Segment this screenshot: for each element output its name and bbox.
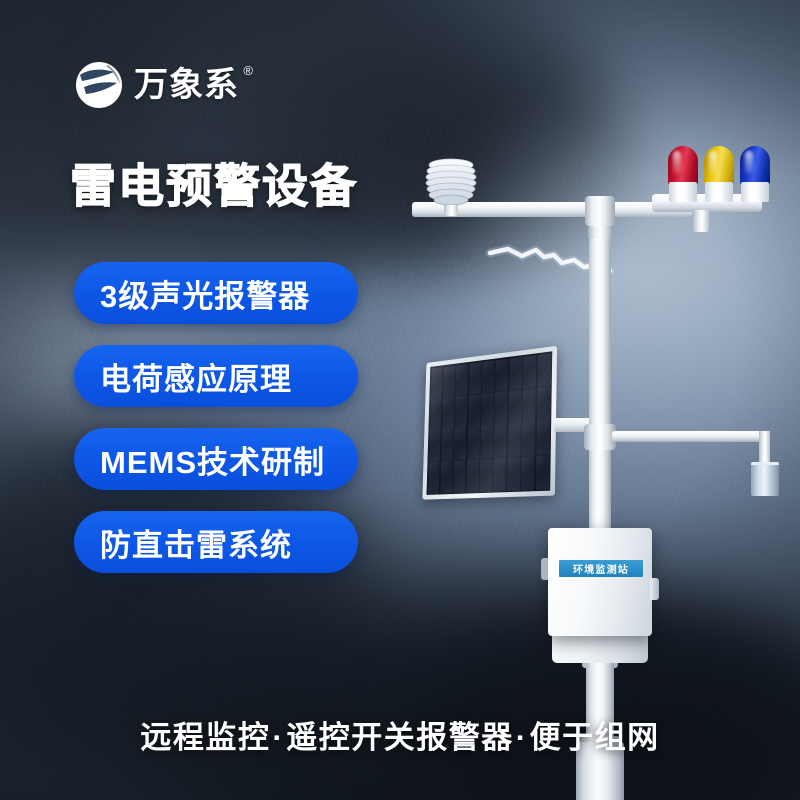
footer-tagline: 远程监控·遥控开关报警器·便于组网 bbox=[0, 712, 800, 757]
control-box-label: 环境监测站 bbox=[559, 560, 643, 577]
cross-arm-clamp-lower bbox=[588, 226, 612, 239]
page-title: 雷电预警设备 bbox=[70, 163, 358, 209]
control-box-right-bracket bbox=[650, 578, 659, 600]
beacon-highlight bbox=[673, 151, 681, 175]
tagline-separator: · bbox=[270, 720, 286, 755]
beacon-base bbox=[669, 182, 697, 202]
tagline-part-1: 远程监控 bbox=[140, 720, 270, 755]
feature-pill: 防直击雷系统 bbox=[74, 511, 358, 573]
brand-name: 万象系 bbox=[134, 66, 239, 104]
feature-pill: 3级声光报警器 bbox=[74, 262, 358, 324]
tagline-part-2: 遥控开关报警器 bbox=[286, 720, 514, 755]
solar-panel-frame bbox=[422, 346, 557, 500]
solar-cell-column bbox=[480, 360, 495, 492]
feature-pill: MEMS技术研制 bbox=[74, 428, 358, 490]
product-poster: 环境监测站 万象系 ® 雷电预警设备 3级声光报警器 电荷感应原理 MEMS技术… bbox=[0, 0, 800, 800]
red-alarm-beacon bbox=[668, 146, 698, 202]
solar-cell-column bbox=[521, 355, 536, 490]
radiation-shield-sensor bbox=[424, 157, 478, 205]
solar-panel bbox=[422, 346, 557, 500]
solar-cell-column bbox=[535, 353, 550, 490]
beacon-base bbox=[705, 182, 733, 202]
beacon-mount-stem bbox=[693, 210, 709, 232]
beacon-base bbox=[741, 182, 769, 202]
yellow-alarm-beacon bbox=[704, 146, 734, 202]
wind-sensor-arm bbox=[612, 431, 770, 442]
registered-mark: ® bbox=[243, 64, 254, 77]
solar-cell-grid bbox=[427, 351, 553, 495]
solar-cell-column bbox=[493, 358, 508, 491]
cross-arm-clamp bbox=[585, 196, 615, 226]
wind-sensor-probe bbox=[751, 462, 779, 496]
blue-alarm-beacon bbox=[740, 146, 770, 202]
beacon-highlight bbox=[709, 151, 717, 175]
solar-cell-column bbox=[507, 357, 522, 491]
feature-pill: 电荷感应原理 bbox=[74, 345, 358, 407]
brand-logo: 万象系 ® bbox=[74, 60, 239, 110]
beacon-highlight bbox=[745, 151, 753, 175]
control-box bbox=[548, 528, 652, 636]
tagline-part-3: 便于组网 bbox=[530, 720, 660, 755]
feature-pill-list: 3级声光报警器 电荷感应原理 MEMS技术研制 防直击雷系统 bbox=[74, 262, 358, 573]
swoosh-circle-logo-icon bbox=[74, 60, 124, 110]
tagline-separator: · bbox=[514, 720, 530, 755]
brand-name-wrapper: 万象系 ® bbox=[134, 68, 239, 102]
